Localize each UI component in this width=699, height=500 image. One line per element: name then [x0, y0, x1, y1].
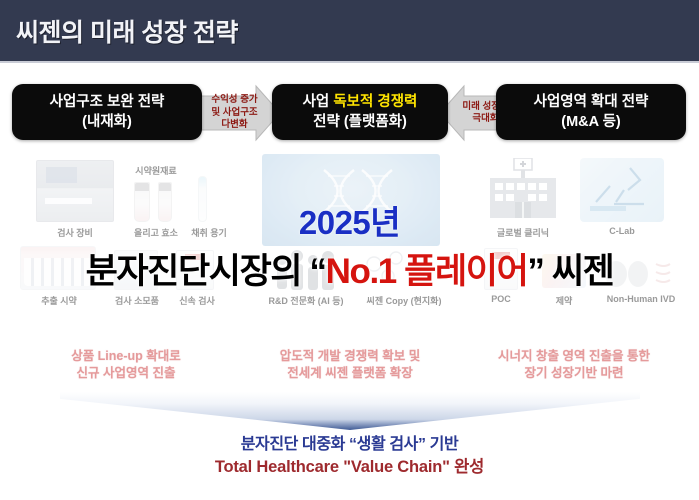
label-test-consumables: 검사 소모품 [106, 294, 168, 307]
arrow-left-label: 수익성 증가 및 사업구조 다변화 [211, 94, 257, 132]
headline-main-highlight: No.1 플레이어 [326, 252, 528, 291]
slogan-line1: 분자진단 대중화 “생활 검사” 기반 [0, 434, 699, 456]
caption-right-line1: 시너지 창출 영역 진출을 통한 [498, 349, 650, 363]
slide-canvas: 씨젠의 미래 성장 전략 사업구조 보완 전략 (내재화) 사업 독보적 경쟁력… [0, 0, 699, 500]
caption-center-line2: 전세계 씨젠 플랫폼 확장 [287, 366, 412, 380]
caption-right-line2: 장기 성장기반 마련 [525, 366, 624, 380]
arrow-right-pointing-left-group: 수익성 증가 및 사업구조 다변화 [198, 84, 280, 142]
caption-left-line2: 신규 사업영역 진출 [77, 366, 176, 380]
strategy-box-center[interactable]: 사업 독보적 경쟁력 전략 (플랫폼화) [272, 84, 448, 140]
slogan-block: 분자진단 대중화 “생활 검사” 기반 Total Healthcare "Va… [0, 434, 699, 479]
caption-left: 상품 Line-up 확대로 신규 사업영역 진출 [8, 348, 244, 382]
arrow-left-line2: 및 사업구조 [211, 107, 257, 118]
strategy-box-right-line2: (M&A 등) [561, 112, 621, 132]
label-seegene-copy: 씨젠 Copy (현지화) [356, 294, 452, 307]
label-poc: POC [478, 294, 524, 304]
strategy-box-left-line2: (내재화) [82, 112, 132, 132]
label-rnd-specialization: R&D 전문화 (AI 등) [254, 294, 358, 307]
label-reagent-raw-material: 시약원재료 [120, 164, 192, 177]
strategy-box-left[interactable]: 사업구조 보완 전략 (내재화) [12, 84, 202, 140]
title-divider [0, 61, 699, 63]
arrow-right-line2: 극대화 [472, 113, 498, 124]
strategy-box-center-highlight: 독보적 경쟁력 [333, 94, 417, 110]
strategy-box-center-line1: 사업 독보적 경쟁력 [303, 92, 418, 112]
arrow-left-line1: 수익성 증가 [211, 94, 257, 105]
headline-main-suffix: ” 씨젠 [527, 252, 613, 291]
slogan-line2: Total Healthcare "Value Chain" 완성 [0, 456, 699, 479]
label-extraction-reagent: 추출 시약 [22, 294, 96, 307]
headline-main: 분자진단시장의 “No.1 플레이어” 씨젠 [0, 243, 699, 294]
strategy-box-left-line1: 사업구조 보완 전략 [50, 92, 165, 112]
caption-right: 시너지 창출 영역 진출을 통한 장기 성장기반 마련 [456, 348, 692, 382]
caption-center: 압도적 개발 경쟁력 확보 및 전세계 씨젠 플랫폼 확장 [248, 348, 452, 382]
strategy-box-center-line1-plain: 사업 [303, 94, 334, 110]
arrow-left-line3: 다변화 [221, 119, 247, 130]
strategy-box-right[interactable]: 사업영역 확대 전략 (M&A 등) [496, 84, 686, 140]
label-rapid-test: 신속 검사 [172, 294, 222, 307]
caption-center-line1: 압도적 개발 경쟁력 확보 및 [280, 349, 420, 363]
headline-main-prefix: 분자진단시장의 “ [86, 252, 326, 291]
label-pharmaceutical: 제약 [536, 294, 592, 307]
caption-left-line1: 상품 Line-up 확대로 [71, 349, 181, 363]
strategy-box-center-line2: 전략 (플랫폼화) [313, 112, 407, 132]
headline-year: 2025년 [0, 196, 699, 244]
label-non-human-ivd: Non-Human IVD [596, 294, 686, 304]
slide-title-bar: 씨젠의 미래 성장 전략 [0, 0, 699, 62]
down-chevron-banner [60, 392, 640, 430]
page-title: 씨젠의 미래 성장 전략 [16, 13, 238, 49]
strategy-box-right-line1: 사업영역 확대 전략 [534, 92, 649, 112]
